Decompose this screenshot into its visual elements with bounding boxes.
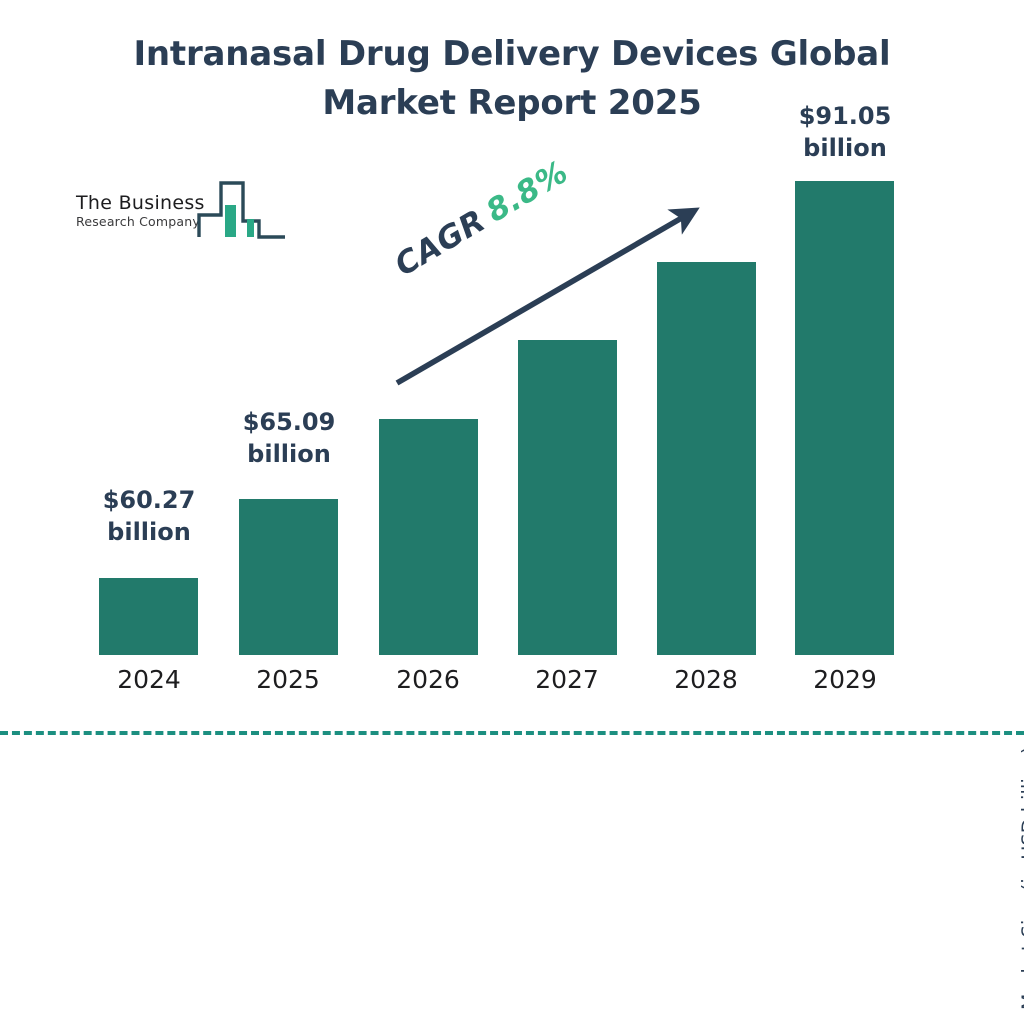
chart-page: Intranasal Drug Delivery Devices Global … [0, 0, 1024, 768]
footer-divider [0, 731, 1024, 735]
tick-label-2025: 2025 [228, 663, 348, 697]
bar-label-2029: $91.05 billion [780, 100, 910, 164]
bar-label-2025: $65.09 billion [224, 406, 354, 470]
cagr-value: 8.8% [480, 154, 574, 230]
tick-label-2024: 2024 [89, 663, 209, 697]
bar-2024 [99, 578, 198, 655]
y-axis-title: Market Size (in USD billion) [1018, 670, 1024, 1010]
tick-label-2028: 2028 [646, 663, 766, 697]
cagr-label: CAGR [389, 203, 492, 284]
bar-2029 [795, 181, 894, 655]
bar-2025 [239, 499, 338, 655]
tick-label-2026: 2026 [368, 663, 488, 697]
plot-area: $60.27 billion $65.09 billion $91.05 bil… [0, 0, 1024, 768]
tick-label-2029: 2029 [785, 663, 905, 697]
bar-2027 [518, 340, 617, 655]
bar-label-2024: $60.27 billion [84, 484, 214, 548]
tick-label-2027: 2027 [507, 663, 627, 697]
cagr-annotation: CAGR8.8% [389, 154, 574, 284]
bar-2026 [379, 419, 478, 655]
bar-2028 [657, 262, 756, 655]
